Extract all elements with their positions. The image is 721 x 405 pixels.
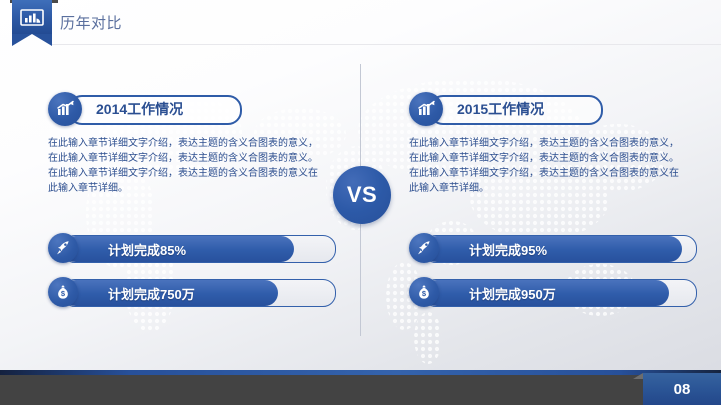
header-divider (52, 44, 721, 45)
stat-label: 计划完成95% (469, 240, 547, 259)
stat-row[interactable]: 计划完成95% (409, 233, 709, 263)
money-bag-icon: $ (48, 277, 78, 307)
rocket-icon (48, 233, 78, 263)
ribbon-tail (12, 34, 52, 46)
page-title: 历年对比 (60, 12, 122, 33)
presentation-chart-icon (20, 9, 44, 27)
progress-track[interactable] (423, 279, 697, 307)
progress-track[interactable] (423, 235, 697, 263)
panel-left: 2014工作情况 在此输入章节详细文字介绍，表达主题的含义合图表的意义，在此输入… (48, 92, 348, 196)
header-ribbon (12, 0, 52, 46)
progress-track[interactable] (62, 235, 336, 263)
panel-right-title: 2015工作情况 (457, 99, 544, 119)
panel-right-stats: 计划完成95% $ 计划完成950万 (409, 233, 709, 321)
bar-chart-growth-icon (48, 92, 82, 126)
panel-right-heading: 2015工作情况 (409, 92, 709, 126)
footer-bar (0, 375, 721, 405)
stat-label: 计划完成950万 (469, 284, 556, 303)
panel-right-body: 在此输入章节详细文字介绍，表达主题的含义合图表的意义，在此输入章节详细文字介绍，… (409, 136, 681, 196)
stat-row[interactable]: 计划完成85% (48, 233, 348, 263)
progress-track[interactable] (62, 279, 336, 307)
rocket-icon (409, 233, 439, 263)
panel-left-title: 2014工作情况 (96, 99, 183, 119)
slide: 历年对比 VS 2014工作情况 在此输入章节详细文字介绍，表达主题的含义合图表… (0, 0, 721, 405)
bar-chart-growth-icon (409, 92, 443, 126)
panel-left-heading: 2014工作情况 (48, 92, 348, 126)
money-bag-icon: $ (409, 277, 439, 307)
panel-right: 2015工作情况 在此输入章节详细文字介绍，表达主题的含义合图表的意义，在此输入… (409, 92, 709, 196)
panel-left-stats: 计划完成85% $ 计划完成750万 (48, 233, 348, 321)
stat-label: 计划完成750万 (108, 284, 195, 303)
page-tab-notch (633, 373, 643, 379)
stat-label: 计划完成85% (108, 240, 186, 259)
stat-row[interactable]: $ 计划完成950万 (409, 277, 709, 307)
progress-fill (424, 236, 682, 262)
stat-row[interactable]: $ 计划完成750万 (48, 277, 348, 307)
panel-left-body: 在此输入章节详细文字介绍，表达主题的含义合图表的意义，在此输入章节详细文字介绍，… (48, 136, 320, 196)
page-number-badge: 08 (643, 373, 721, 405)
